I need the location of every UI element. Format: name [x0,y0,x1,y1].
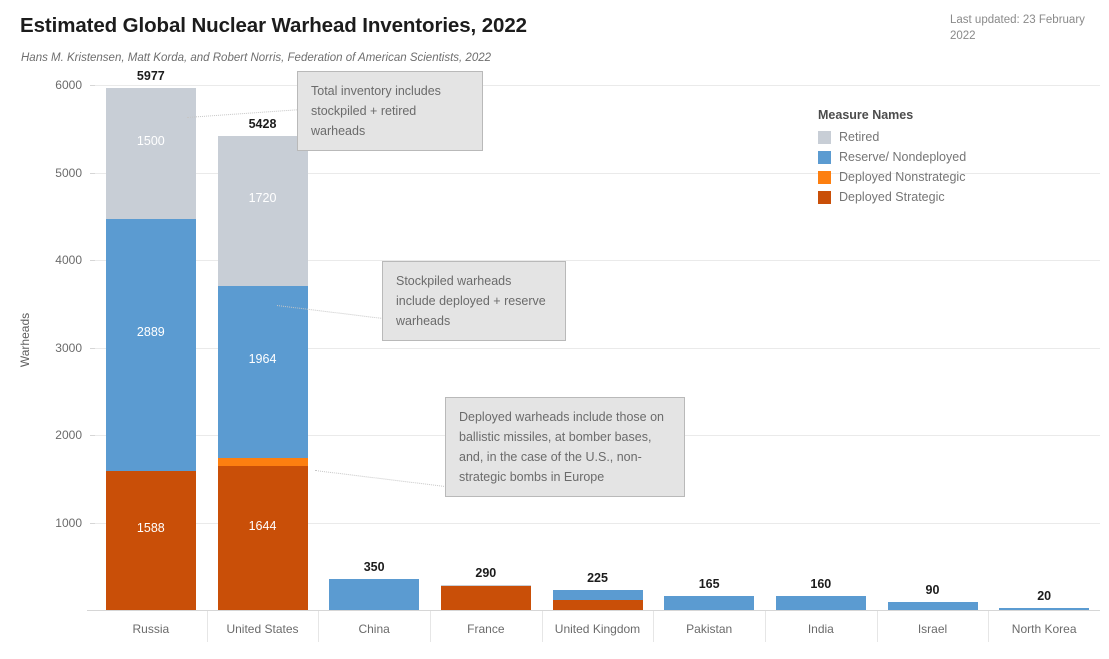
bar-total-label: 5428 [218,117,308,131]
bar-total-label: 225 [553,571,643,585]
y-axis-tick-label: 3000 [22,341,82,355]
legend-item[interactable]: Deployed Nonstrategic [818,167,966,187]
x-axis-divider [430,611,431,642]
legend-item[interactable]: Deployed Strategic [818,187,966,207]
bar-segment[interactable] [553,590,643,599]
y-axis-tick-mark [90,260,95,261]
bar-segment[interactable] [888,602,978,610]
bar-segment[interactable] [553,600,643,610]
bar-total-label: 165 [664,577,754,591]
x-axis-tick-label[interactable]: India [776,622,866,636]
page-subtitle: Hans M. Kristensen, Matt Korda, and Robe… [21,52,491,64]
legend-item-label: Reserve/ Nondeployed [839,150,966,164]
y-axis-tick-mark [90,348,95,349]
bar-group[interactable]: 20North Korea [999,68,1089,610]
y-axis-tick-label: 5000 [22,166,82,180]
legend-item-label: Deployed Nonstrategic [839,170,965,184]
x-axis-tick-label[interactable]: United Kingdom [553,622,643,636]
bar-group[interactable]: 225United Kingdom [553,68,643,610]
x-axis-tick-label[interactable]: Israel [888,622,978,636]
bar-total-label: 20 [999,589,1089,603]
bar-segment[interactable] [218,466,308,610]
y-axis-tick-mark [90,85,95,86]
bar-total-label: 160 [776,577,866,591]
legend-item[interactable]: Reserve/ Nondeployed [818,147,966,167]
bar-segment[interactable] [106,219,196,472]
x-axis-line [87,610,1100,611]
x-axis-divider [207,611,208,642]
y-axis-tick-label: 4000 [22,253,82,267]
x-axis-divider [653,611,654,642]
bar-segment[interactable] [218,458,308,467]
bar-segment[interactable] [218,286,308,458]
x-axis-tick-label[interactable]: Pakistan [664,622,754,636]
stockpiled-note: Stockpiled warheads include deployed + r… [382,261,566,341]
last-updated-label: Last updated: 23 February 2022 [950,12,1102,44]
y-axis-tick-mark [90,435,95,436]
x-axis-divider [542,611,543,642]
y-axis-tick-mark [90,523,95,524]
bar-segment[interactable] [441,585,531,586]
x-axis-tick-label[interactable]: China [329,622,419,636]
x-axis-tick-label[interactable]: United States [218,622,308,636]
x-axis-divider [877,611,878,642]
legend-item-label: Deployed Strategic [839,190,945,204]
bar-segment[interactable] [776,596,866,610]
x-axis-tick-label[interactable]: Russia [106,622,196,636]
bar-total-label: 350 [329,560,419,574]
legend-swatch-icon [818,131,831,144]
y-axis-tick-label: 6000 [22,78,82,92]
bar-group[interactable]: 1588288915005977Russia [106,68,196,610]
bar-segment[interactable] [106,88,196,219]
y-axis-tick-label: 1000 [22,516,82,530]
legend-title: Measure Names [818,108,966,122]
bar-total-label: 90 [888,583,978,597]
legend-swatch-icon [818,151,831,164]
bar-total-label: 290 [441,566,531,580]
x-axis-divider [765,611,766,642]
bar-group[interactable]: 1644196417205428United States [218,68,308,610]
bar-total-label: 5977 [106,69,196,83]
y-axis-tick-label: 2000 [22,428,82,442]
bar-segment[interactable] [329,579,419,610]
total-inventory-note: Total inventory includes stockpiled + re… [297,71,483,151]
bar-group[interactable]: 165Pakistan [664,68,754,610]
legend-swatch-icon [818,171,831,184]
y-axis-tick-mark [90,173,95,174]
bar-segment[interactable] [441,586,531,610]
bar-segment[interactable] [218,136,308,286]
legend-swatch-icon [818,191,831,204]
deployed-note: Deployed warheads include those on balli… [445,397,685,497]
bar-segment[interactable] [664,596,754,610]
legend-item[interactable]: Retired [818,127,966,147]
x-axis-divider [318,611,319,642]
bar-segment[interactable] [999,608,1089,610]
legend-item-label: Retired [839,130,879,144]
x-axis-tick-label[interactable]: North Korea [999,622,1089,636]
legend: Measure Names RetiredReserve/ Nondeploye… [818,108,966,207]
bar-segment[interactable] [106,471,196,610]
x-axis-divider [988,611,989,642]
x-axis-tick-label[interactable]: France [441,622,531,636]
page-title: Estimated Global Nuclear Warhead Invento… [20,14,527,38]
chart-page: Estimated Global Nuclear Warhead Invento… [0,0,1109,659]
